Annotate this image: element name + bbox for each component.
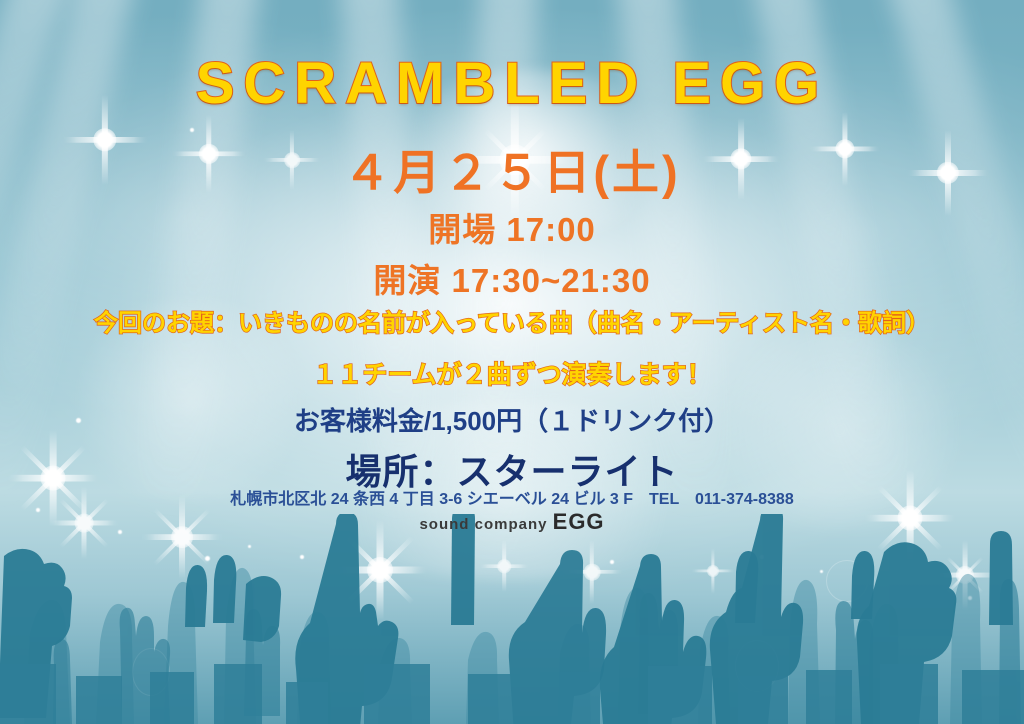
event-theme: 今回のお題：いきものの名前が入っている曲（曲名・アーティスト名・歌詞） bbox=[0, 303, 1024, 338]
organizer-credit: sound company EGG bbox=[0, 509, 1024, 535]
organizer-name: EGG bbox=[553, 509, 605, 534]
sparkle-dot bbox=[190, 128, 194, 132]
concert-poster: SCRAMBLED EGG ４月２５日(土) 開場 17:00 開演 17:30… bbox=[0, 0, 1024, 724]
crowd-silhouette bbox=[0, 514, 1024, 724]
event-date: ４月２５日(土) bbox=[0, 134, 1024, 203]
show-start-time: 開演 17:30~21:30 bbox=[0, 254, 1024, 302]
page-title: SCRAMBLED EGG bbox=[0, 50, 1024, 117]
teams-info: １１チームが２曲ずつ演奏します！ bbox=[0, 355, 1024, 391]
organizer-prefix: sound company bbox=[419, 516, 552, 533]
ticket-price: お客様料金/1,500円（１ドリンク付） bbox=[0, 401, 1024, 438]
venue-address: 札幌市北区北 24 条西 4 丁目 3-6 シエーベル 24 ビル 3 F TE… bbox=[0, 485, 1024, 509]
doors-open-time: 開場 17:00 bbox=[0, 203, 1024, 251]
